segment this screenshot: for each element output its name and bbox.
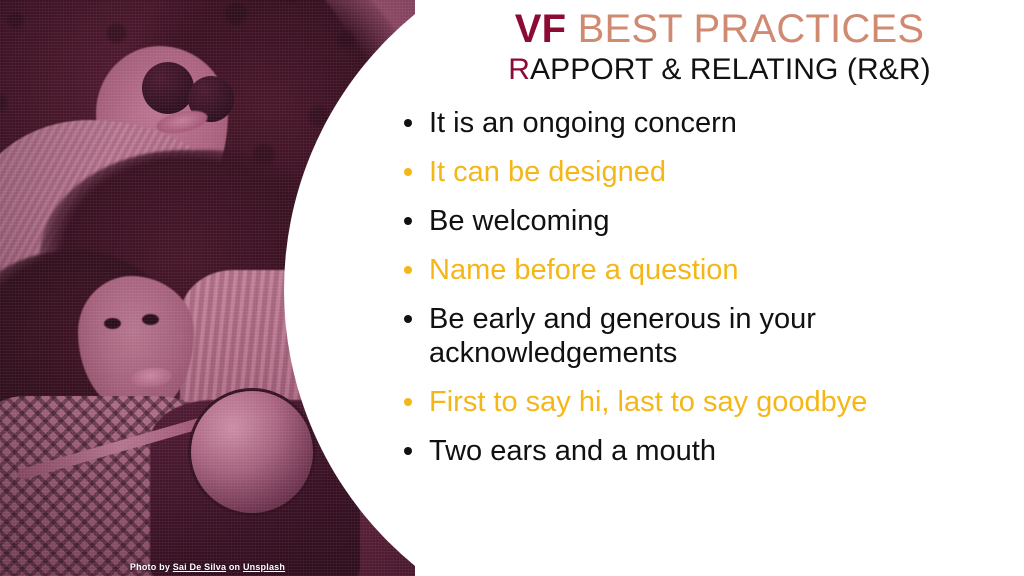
title-rest: BEST PRACTICES [566, 7, 924, 51]
bullet-list: It is an ongoing concern It can be desig… [396, 106, 996, 483]
bullet-text: First to say hi, last to say goodbye [429, 385, 996, 419]
slide-content: VF BEST PRACTICES RAPPORT & RELATING (R&… [0, 0, 1024, 576]
list-item: It can be designed [396, 155, 996, 189]
list-item: Name before a question [396, 253, 996, 287]
bullet-text: Be welcoming [429, 204, 996, 238]
photo-credit-source-link[interactable]: Unsplash [243, 562, 285, 572]
bullet-dot-icon [404, 447, 412, 455]
photo-credit-middle: on [226, 562, 243, 572]
bullet-dot-icon [404, 315, 412, 323]
subtitle-rest: APPORT & RELATING (R&R) [530, 53, 931, 86]
bullet-dot-icon [404, 217, 412, 225]
bullet-dot-icon [404, 168, 412, 176]
slide: Photo by Sai De Silva on Unsplash VF BES… [0, 0, 1024, 576]
bullet-text: Be early and generous in your acknowledg… [429, 302, 996, 370]
bullet-dot-icon [404, 119, 412, 127]
title-block: VF BEST PRACTICES RAPPORT & RELATING (R&… [415, 6, 1024, 88]
bullet-text: It can be designed [429, 155, 996, 189]
slide-subtitle: RAPPORT & RELATING (R&R) [415, 52, 1024, 88]
subtitle-highlight-r: R [508, 53, 530, 86]
list-item: It is an ongoing concern [396, 106, 996, 140]
list-item: First to say hi, last to say goodbye [396, 385, 996, 419]
photo-credit-prefix: Photo by [130, 562, 173, 572]
photo-credit-author-link[interactable]: Sai De Silva [173, 562, 226, 572]
bullet-dot-icon [404, 266, 412, 274]
title-highlight-vf: VF [515, 7, 567, 51]
bullet-text: It is an ongoing concern [429, 106, 996, 140]
slide-title: VF BEST PRACTICES [415, 6, 1024, 52]
list-item: Two ears and a mouth [396, 434, 996, 468]
bullet-text: Name before a question [429, 253, 996, 287]
list-item: Be welcoming [396, 204, 996, 238]
photo-credit: Photo by Sai De Silva on Unsplash [0, 562, 415, 572]
bullet-text: Two ears and a mouth [429, 434, 996, 468]
list-item: Be early and generous in your acknowledg… [396, 302, 996, 370]
bullet-dot-icon [404, 398, 412, 406]
